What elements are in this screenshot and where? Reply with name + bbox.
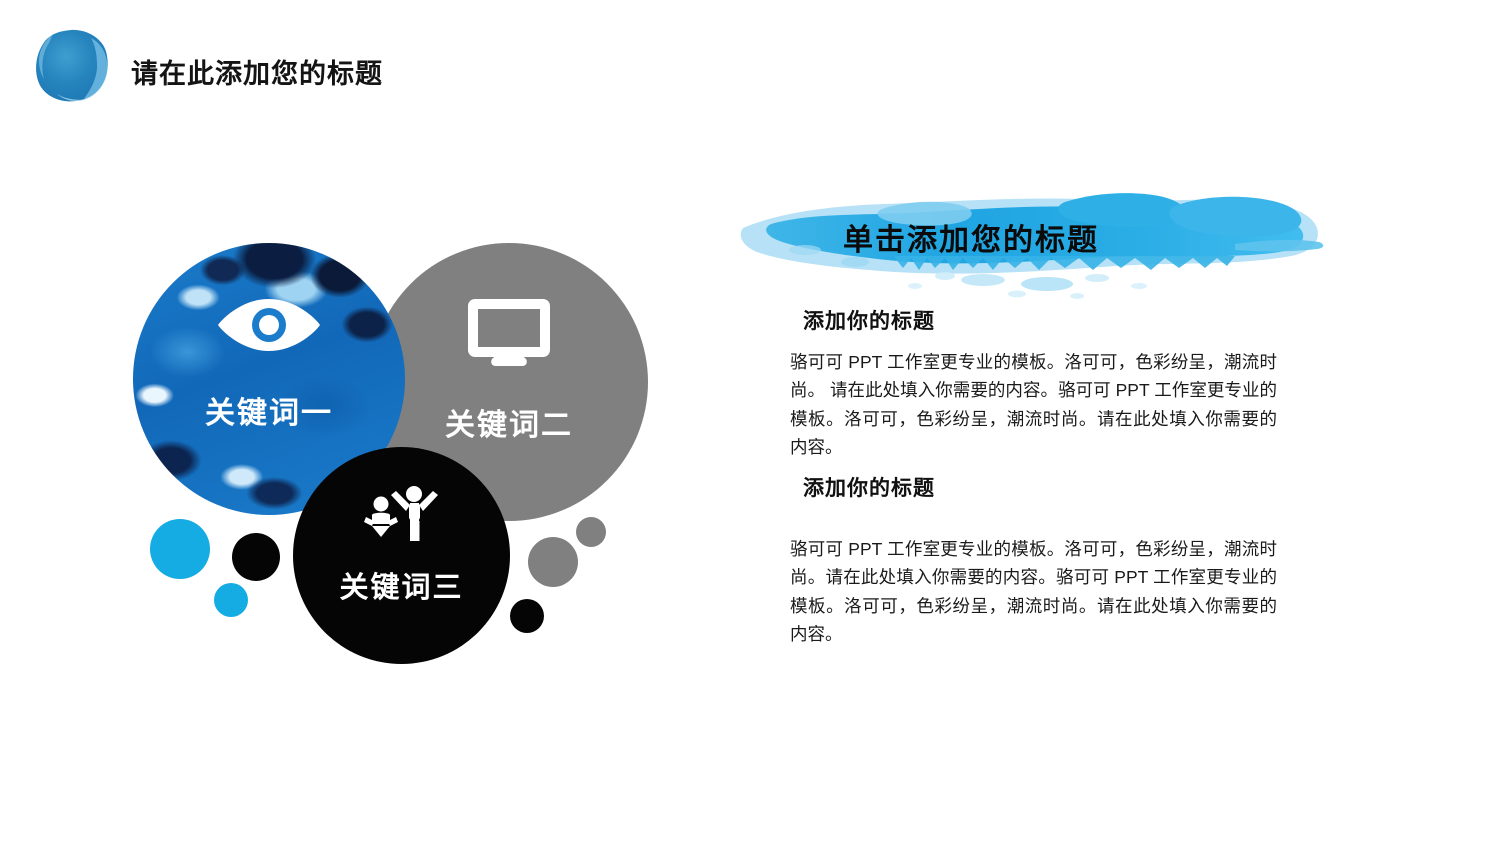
- watercolor-blob-icon: [33, 28, 111, 104]
- slide-canvas: 请在此添加您的标题 关键词二: [0, 0, 1500, 844]
- section-subtitle-1: 添加你的标题: [803, 305, 935, 335]
- splash-banner: 单击添加您的标题: [735, 190, 1325, 310]
- decor-dot-gray-small: [576, 517, 606, 547]
- splash-title: 单击添加您的标题: [843, 215, 1099, 259]
- content-column: 单击添加您的标题 添加你的标题 骆可可 PPT 工作室更专业的模板。洛可可，色彩…: [735, 190, 1335, 310]
- keyword-circle-2-label: 关键词二: [445, 400, 573, 444]
- decor-dot-cyan-small: [214, 583, 248, 617]
- section-subtitle-2: 添加你的标题: [803, 472, 935, 502]
- keyword-circle-cluster: 关键词二 关键词一: [110, 225, 690, 645]
- page-title: 请在此添加您的标题: [131, 52, 383, 91]
- decor-dot-black-small: [510, 599, 544, 633]
- eye-icon: [216, 295, 322, 360]
- keyword-circle-3[interactable]: 关键词三: [293, 447, 510, 664]
- people-icon: [364, 481, 440, 550]
- decor-dot-gray-large: [528, 537, 578, 587]
- section-body-1: 骆可可 PPT 工作室更专业的模板。洛可可，色彩纷呈，潮流时尚。 请在此处填入你…: [790, 348, 1277, 461]
- keyword-circle-1-label: 关键词一: [205, 388, 333, 432]
- keyword-circle-3-label: 关键词三: [339, 564, 463, 606]
- decor-dot-black-medium: [232, 533, 280, 581]
- decor-dot-cyan-large: [150, 519, 210, 579]
- monitor-icon: [466, 297, 552, 374]
- section-body-2: 骆可可 PPT 工作室更专业的模板。洛可可，色彩纷呈，潮流时尚。请在此处填入你需…: [790, 535, 1277, 648]
